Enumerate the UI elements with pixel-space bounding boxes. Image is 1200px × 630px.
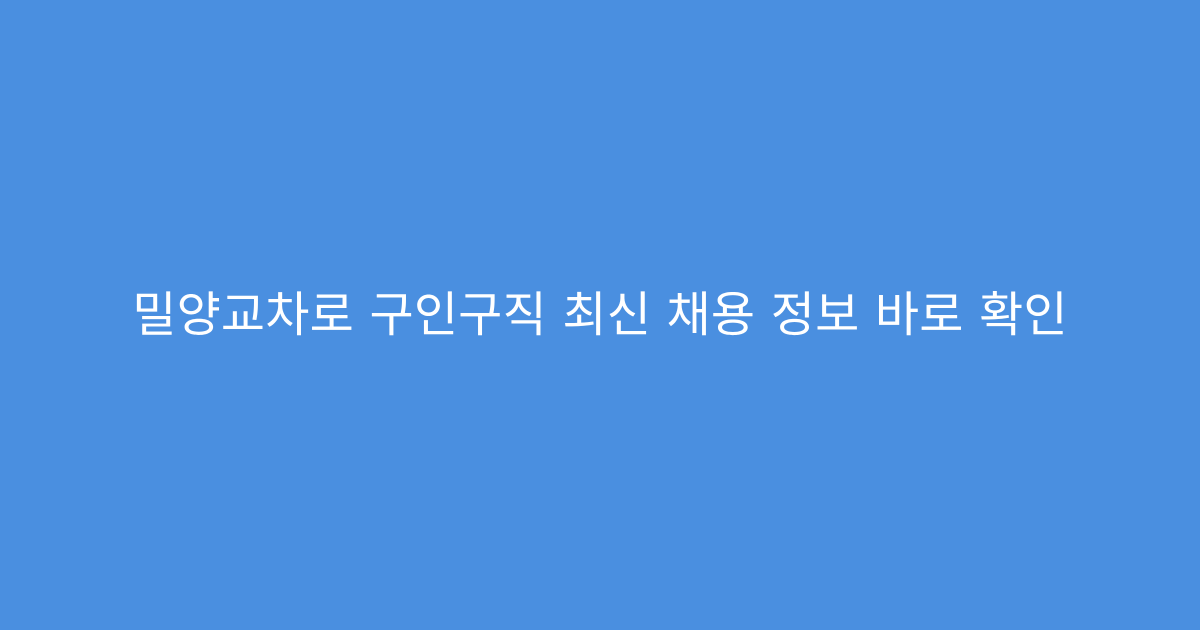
banner-card: 밀양교차로 구인구직 최신 채용 정보 바로 확인 xyxy=(0,0,1200,630)
banner-headline: 밀양교차로 구인구직 최신 채용 정보 바로 확인 xyxy=(132,283,1068,348)
